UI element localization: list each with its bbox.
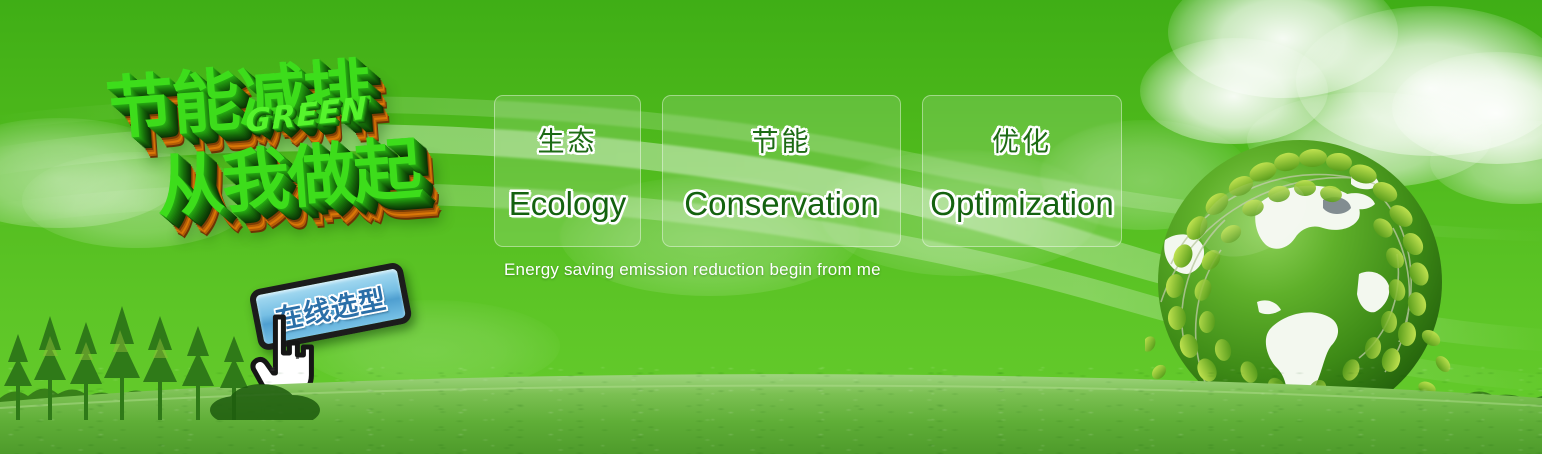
- cloud-shape: [22, 152, 252, 248]
- feature-card-conservation[interactable]: 节能 Conservation: [662, 95, 901, 247]
- feature-card-ecology[interactable]: 生态 Ecology: [494, 95, 641, 247]
- green-energy-banner: 节能减排 GREEN 从我做起 在线选型 生态 Ecology 节能 Conse…: [0, 0, 1542, 454]
- feature-card-title-en: Conservation: [684, 185, 878, 223]
- grass-texture: [0, 362, 1542, 454]
- headline-3d: 节能减排 GREEN 从我做起: [88, 20, 505, 289]
- online-selection-label: 在线选型: [272, 277, 389, 337]
- online-selection-cta[interactable]: 在线选型: [248, 258, 430, 367]
- feature-card-row: 生态 Ecology 节能 Conservation 优化 Optimizati…: [494, 95, 1122, 247]
- cloud-shape: [1392, 52, 1542, 164]
- headline-line-2: 从我做起: [152, 113, 423, 231]
- feature-card-title-en: Optimization: [930, 185, 1113, 223]
- tagline-text: Energy saving emission reduction begin f…: [504, 260, 881, 280]
- feature-card-optimization[interactable]: 优化 Optimization: [922, 95, 1122, 247]
- cloud-shape: [1140, 38, 1328, 144]
- cloud-shape: [1430, 120, 1542, 204]
- feature-card-title-cn: 生态: [538, 120, 598, 159]
- cloud-shape: [1247, 92, 1491, 188]
- cloud-shape: [0, 118, 184, 228]
- online-selection-button[interactable]: 在线选型: [248, 261, 413, 352]
- cloud-shape: [1296, 6, 1542, 156]
- feature-card-title-en: Ecology: [509, 185, 626, 223]
- feature-card-title-cn: 优化: [992, 120, 1052, 159]
- headline-line-1: 节能减排: [102, 35, 373, 153]
- feature-card-title-cn: 节能: [752, 120, 812, 159]
- cloud-shape: [1168, 0, 1398, 98]
- headline-accent-green: GREEN: [245, 90, 367, 139]
